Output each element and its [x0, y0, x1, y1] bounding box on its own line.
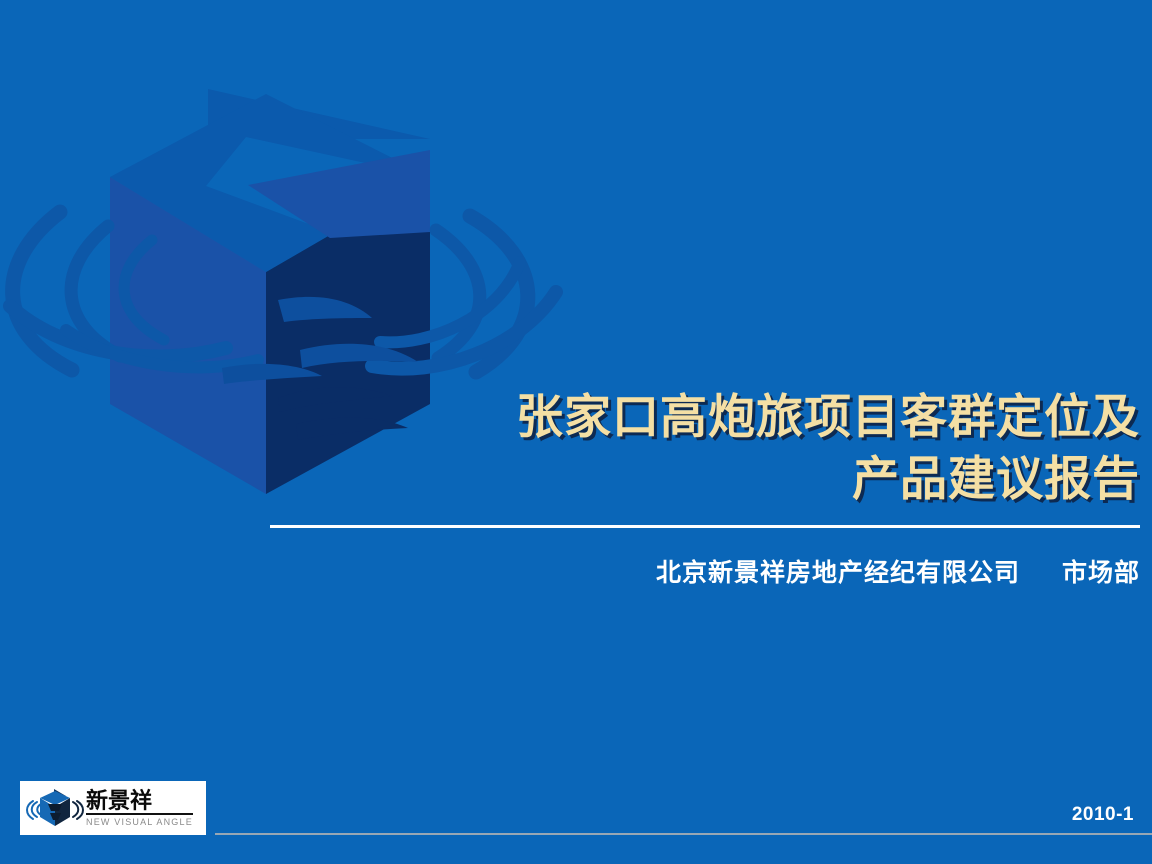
banner-triangle-shape — [208, 89, 430, 139]
calligraphy-strokes — [222, 297, 418, 384]
subtitle-department: 市场部 — [1062, 559, 1140, 587]
title-divider — [270, 525, 1140, 528]
page-title: 张家口高炮旅项目客群定位及 产品建议报告 — [250, 386, 1140, 510]
logo-wordmark: 新景祥 NEW VISUAL ANGLE — [86, 789, 193, 828]
presentation-slide: 张家口高炮旅项目客群定位及 产品建议报告 北京新景祥房地产经纪有限公司市场部 — [0, 0, 1152, 864]
swoosh-arcs-left — [10, 212, 258, 370]
title-line-1: 张家口高炮旅项目客群定位及 — [250, 386, 1140, 448]
subtitle: 北京新景祥房地产经纪有限公司市场部 — [250, 553, 1140, 589]
cube-inner-flap — [248, 150, 430, 238]
logo-cube-icon — [26, 787, 84, 829]
title-line-2: 产品建议报告 — [250, 448, 1140, 510]
logo-english-name: NEW VISUAL ANGLE — [86, 816, 193, 828]
slide-date: 2010-1 — [1072, 804, 1134, 826]
cube-top-notch — [206, 137, 430, 232]
subtitle-company: 北京新景祥房地产经纪有限公司 — [656, 559, 1020, 587]
logo-chinese-name: 新景祥 — [86, 789, 193, 815]
cube-face-left — [110, 177, 266, 494]
cube-face-top — [110, 94, 430, 272]
footer-divider — [215, 833, 1152, 835]
swoosh-arcs-right — [372, 216, 556, 372]
company-logo: 新景祥 NEW VISUAL ANGLE — [20, 781, 206, 835]
